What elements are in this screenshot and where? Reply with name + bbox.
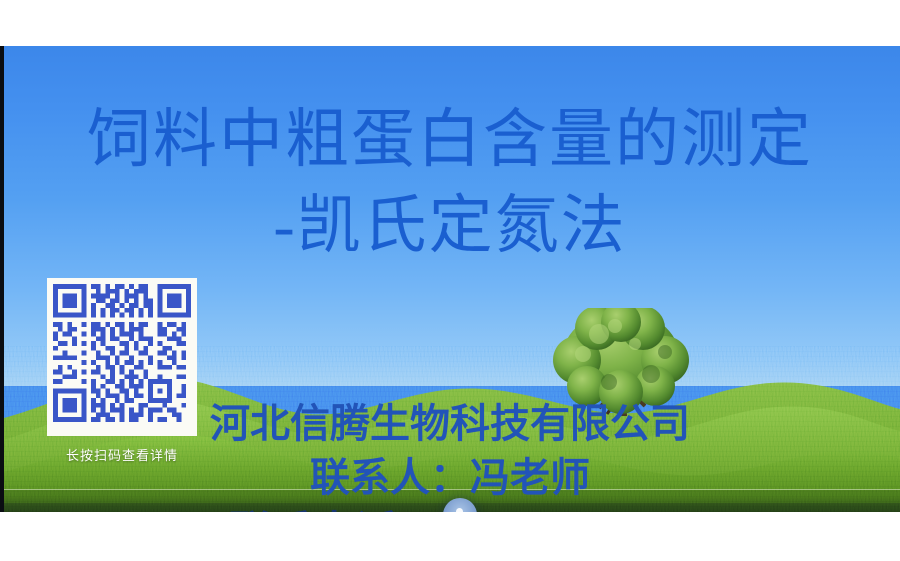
play-indicator-dot	[456, 508, 463, 512]
page-subtitle: -凯氏定氮法	[0, 194, 900, 258]
qr-code-card[interactable]	[47, 278, 197, 438]
contact-person: 联系人：冯老师	[0, 458, 900, 498]
qr-code-caption: 长按扫码查看详情	[47, 445, 197, 464]
video-player[interactable]: 饲料中粗蛋白含量的测定 -凯氏定氮法	[0, 46, 900, 512]
page-title: 饲料中粗蛋白含量的测定	[0, 108, 900, 172]
qr-code-icon[interactable]	[53, 284, 191, 422]
video-left-edge	[0, 46, 4, 512]
screenshot-root: 饲料中粗蛋白含量的测定 -凯氏定氮法	[0, 0, 900, 561]
